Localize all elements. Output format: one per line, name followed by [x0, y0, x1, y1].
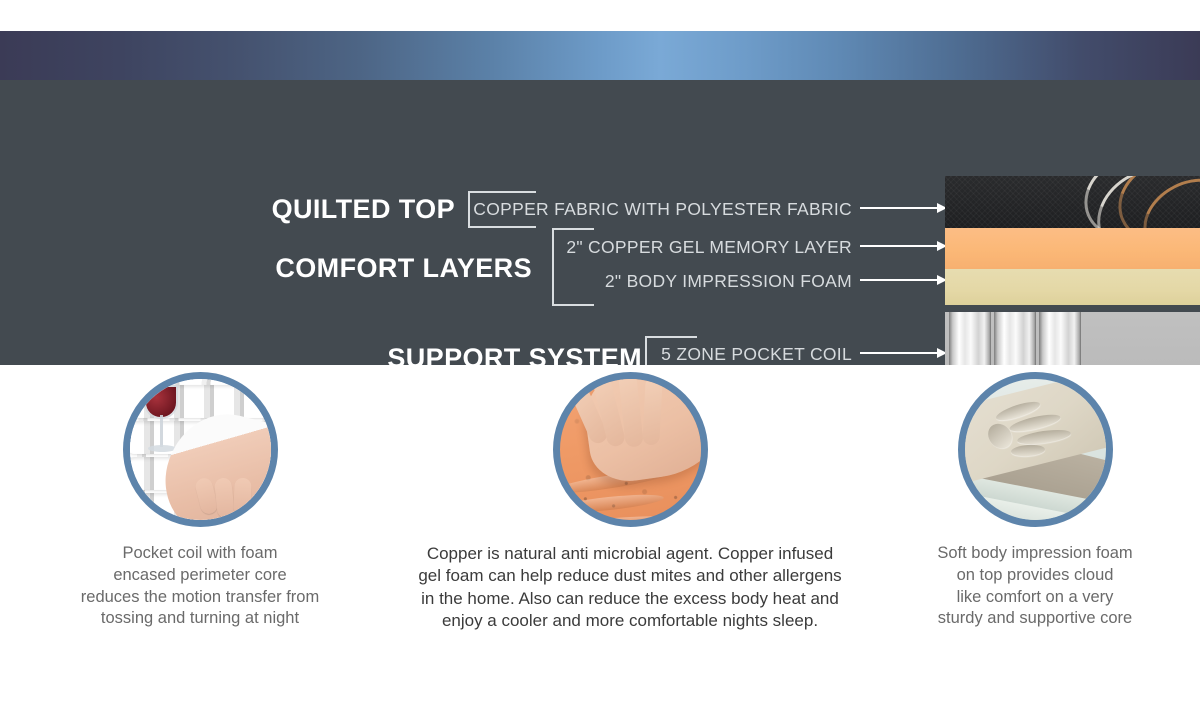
caption-line: reduces the motion transfer from: [20, 587, 380, 609]
feature-caption-copper-gel: Copper is natural anti microbial agent. …: [380, 543, 880, 633]
caption-line: in the home. Also can reduce the excess …: [380, 588, 880, 610]
group-heading-quilted-top: QUILTED TOP: [272, 194, 455, 225]
wine-glass-icon: [146, 387, 176, 417]
group-heading-comfort-layers: COMFORT LAYERS: [275, 253, 532, 284]
caption-line: Copper is natural anti microbial agent. …: [380, 543, 880, 565]
feature-caption-body-impression: Soft body impression foam on top provide…: [885, 543, 1185, 630]
caption-line: gel foam can help reduce dust mites and …: [380, 565, 880, 587]
feature-pocket-coil: Pocket coil with foam encased perimeter …: [20, 365, 380, 630]
finger: [233, 478, 251, 517]
layer-label-copper-gel-memory: 2" COPPER GEL MEMORY LAYER: [566, 237, 852, 258]
infographic-page: QUILTED TOP COMFORT LAYERS SUPPORT SYSTE…: [0, 0, 1200, 719]
wine-glass-stem: [160, 415, 163, 447]
layer-copper-gel-memory: [945, 228, 1200, 269]
arrow-to-copper-gel-memory: [860, 245, 946, 247]
layer-gap: [945, 305, 1200, 312]
arrow-to-body-impression-foam: [860, 279, 946, 281]
finger: [642, 377, 663, 446]
feature-copper-gel: Copper is natural anti microbial agent. …: [380, 365, 880, 633]
header-gradient-banner: [0, 31, 1200, 80]
caption-line: like comfort on a very: [885, 587, 1185, 609]
arrow-to-quilted-fabric: [860, 207, 946, 209]
caption-line: Soft body impression foam: [885, 543, 1185, 565]
feature-image-memory-foam: [958, 372, 1113, 527]
caption-line: enjoy a cooler and more comfortable nigh…: [380, 610, 880, 632]
layer-body-impression-foam: [945, 269, 1200, 305]
caption-line: Pocket coil with foam: [20, 543, 380, 565]
feature-image-copper-gel-foam: [553, 372, 708, 527]
caption-line: sturdy and supportive core: [885, 608, 1185, 630]
layer-quilted-fabric: [945, 176, 1200, 228]
feature-body-impression: Soft body impression foam on top provide…: [885, 365, 1185, 630]
layer-label-quilted-fabric: COPPER FABRIC WITH POLYESTER FABRIC: [473, 199, 852, 220]
layer-label-pocket-coil: 5 ZONE POCKET COIL: [661, 344, 852, 365]
features-section: Pocket coil with foam encased perimeter …: [0, 365, 1200, 719]
arrow-to-pocket-coil: [860, 352, 946, 354]
feature-image-pocket-coil: [123, 372, 278, 527]
mattress-diagram-panel: QUILTED TOP COMFORT LAYERS SUPPORT SYSTE…: [0, 80, 1200, 365]
caption-line: encased perimeter core: [20, 565, 380, 587]
layer-label-body-impression-foam: 2" BODY IMPRESSION FOAM: [605, 271, 852, 292]
top-white-strip: [0, 0, 1200, 31]
caption-line: tossing and turning at night: [20, 608, 380, 630]
feature-caption-pocket-coil: Pocket coil with foam encased perimeter …: [20, 543, 380, 630]
caption-line: on top provides cloud: [885, 565, 1185, 587]
